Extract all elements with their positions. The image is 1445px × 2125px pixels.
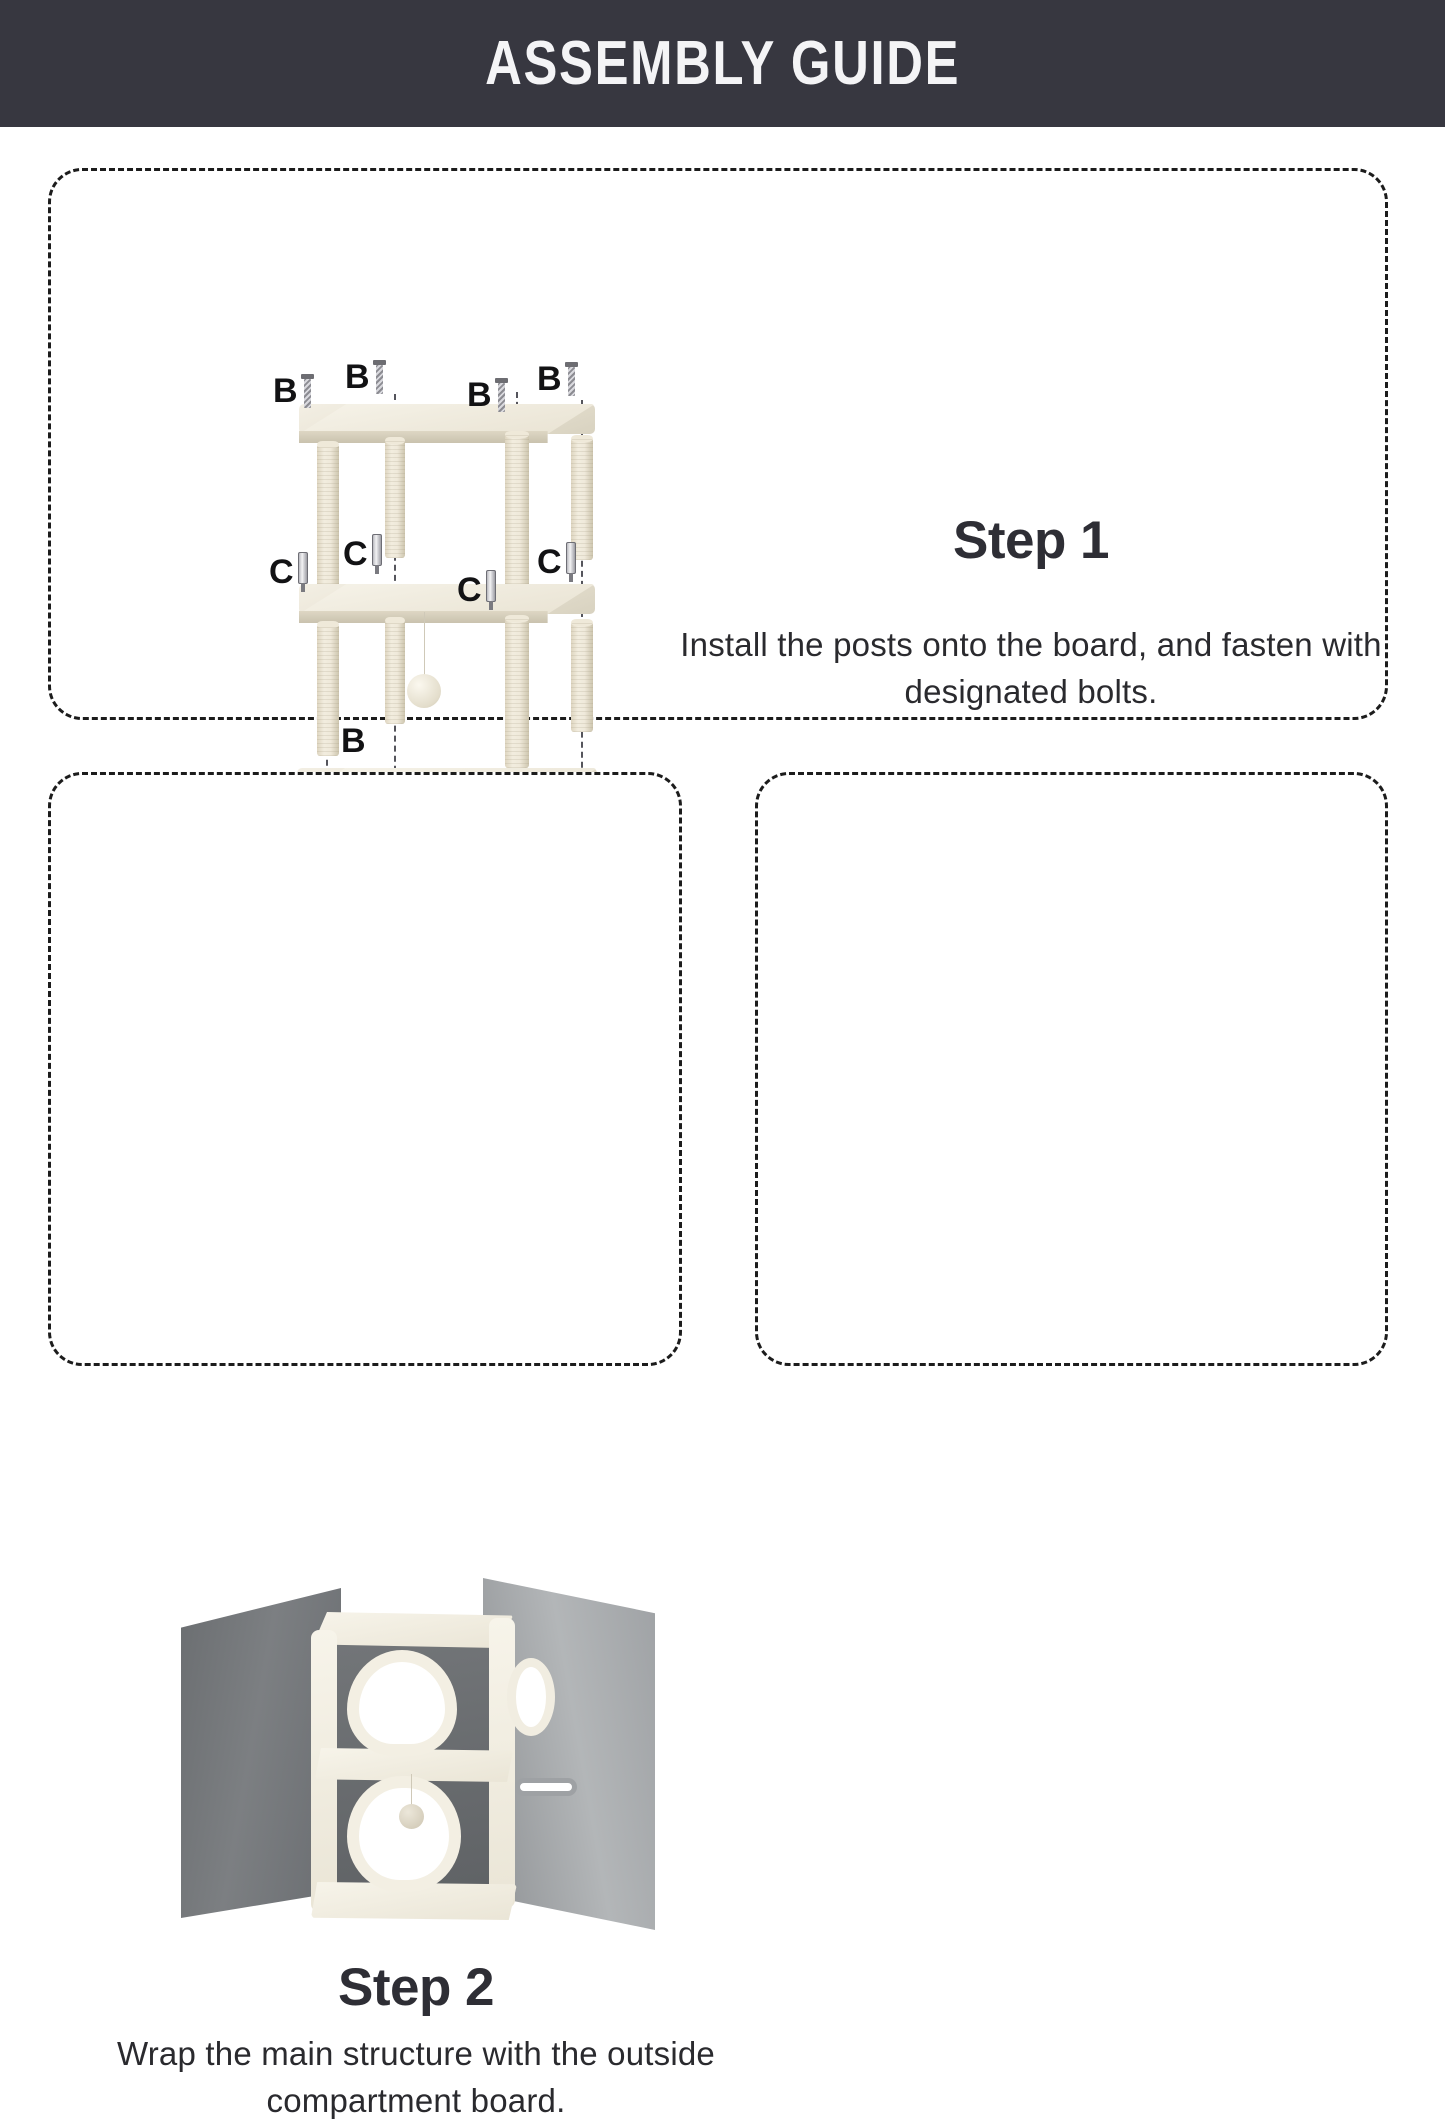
screw-icon xyxy=(495,378,508,412)
step-3-panel: Step 3 And you have a completely assembl… xyxy=(755,772,1388,1366)
side-porthole xyxy=(507,1658,555,1736)
hardware-letter: B xyxy=(345,360,370,394)
step-2-product-photo xyxy=(171,1570,661,1955)
board-top-face xyxy=(299,404,595,434)
top-board xyxy=(299,404,595,434)
hardware-letter: B xyxy=(467,378,492,412)
lower-compartment-opening xyxy=(347,1776,461,1892)
hardware-letter: B xyxy=(537,362,562,396)
pom-pom-toy xyxy=(407,674,441,708)
barrel-bolt-icon xyxy=(485,570,497,610)
step-1-panel: B B B B C C C C xyxy=(48,168,1388,720)
page-title: ASSEMBLY GUIDE xyxy=(485,28,960,99)
hardware-callout-c: C xyxy=(537,542,577,582)
toy-string xyxy=(424,612,425,678)
post-cap xyxy=(317,441,339,448)
hardware-callout-b: B xyxy=(467,378,508,412)
step-2-body: Wrap the main structure with the outside… xyxy=(111,2030,721,2125)
hardware-callout-c: C xyxy=(343,534,383,574)
page-header: ASSEMBLY GUIDE xyxy=(0,0,1445,127)
post-cap xyxy=(505,431,529,438)
screw-icon xyxy=(373,360,386,394)
post-cap xyxy=(385,437,405,444)
barrel-bolt-icon xyxy=(297,552,309,592)
upper-post xyxy=(385,440,405,558)
hardware-callout-c: C xyxy=(269,552,309,592)
top-board xyxy=(313,1612,513,1648)
pom-pom-toy xyxy=(399,1804,424,1829)
hardware-letter: C xyxy=(457,573,482,607)
step-2-heading: Step 2 xyxy=(111,1960,721,2016)
barrel-bolt-icon xyxy=(371,534,383,574)
hardware-callout-b: B xyxy=(341,724,366,758)
screw-icon xyxy=(565,362,578,396)
hardware-callout-b: B xyxy=(537,362,578,396)
middle-board xyxy=(299,584,595,614)
barrel-bolt-icon xyxy=(565,542,577,582)
hardware-letter: C xyxy=(537,545,562,579)
hardware-callout-b: B xyxy=(345,360,386,394)
step-2-panel: Step 2 Wrap the main structure with the … xyxy=(48,772,682,1366)
board-top-face xyxy=(299,584,595,614)
post-cap xyxy=(571,619,593,626)
lower-post xyxy=(385,620,405,724)
lower-post xyxy=(505,618,529,768)
screw-icon xyxy=(301,374,314,408)
lower-post xyxy=(571,622,593,732)
toy-string xyxy=(411,1774,412,1808)
upper-post xyxy=(505,434,529,600)
post-cap xyxy=(571,435,593,442)
board-edge xyxy=(299,431,595,443)
hardware-letter: B xyxy=(341,724,366,758)
hardware-callout-c: C xyxy=(457,570,497,610)
lower-post xyxy=(317,624,339,756)
hardware-letter: C xyxy=(269,555,294,589)
side-handle-slot xyxy=(515,1778,577,1796)
hardware-callout-b: B xyxy=(273,374,314,408)
step-1-heading: Step 1 xyxy=(671,513,1391,569)
post-cap xyxy=(385,617,405,624)
hardware-letter: B xyxy=(273,374,298,408)
step-1-body: Install the posts onto the board, and fa… xyxy=(671,621,1391,717)
step-1-text-block: Step 1 Install the posts onto the board,… xyxy=(671,513,1391,716)
step-2-text-block: Step 2 Wrap the main structure with the … xyxy=(111,1960,721,2125)
post-cap xyxy=(505,615,529,622)
hardware-letter: C xyxy=(343,537,368,571)
post-cap xyxy=(317,621,339,628)
upper-post xyxy=(317,444,339,604)
board-edge xyxy=(299,611,595,623)
